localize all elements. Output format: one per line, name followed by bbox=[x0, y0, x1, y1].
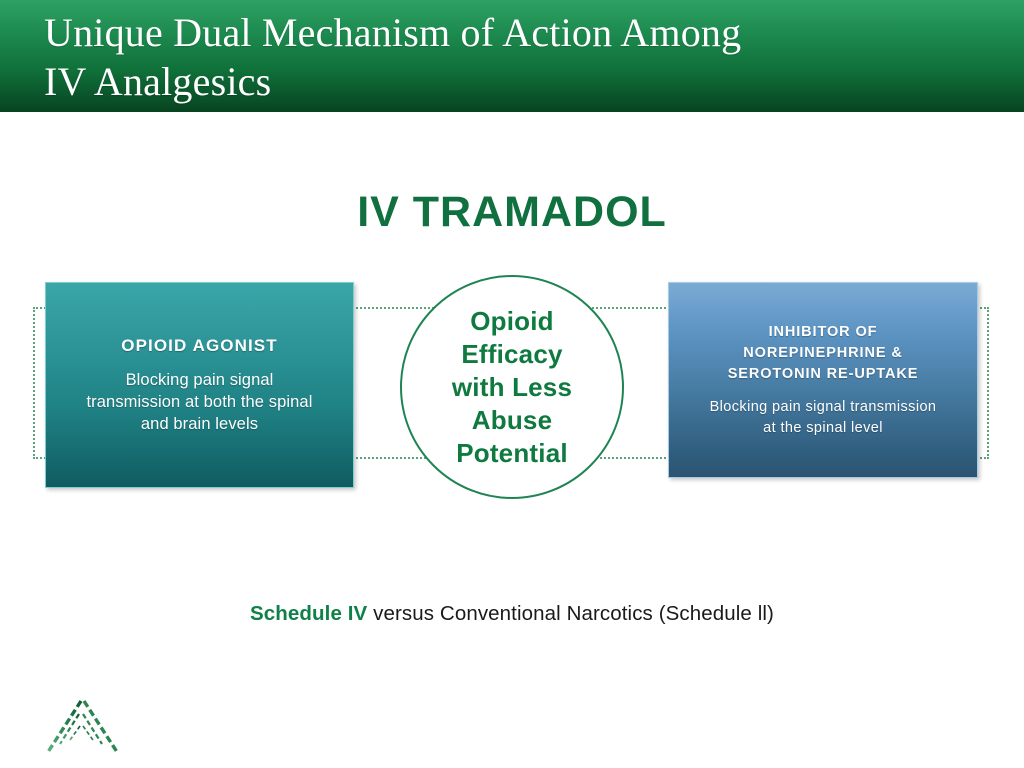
center-outcome-circle: Opioid Efficacy with Less Abuse Potentia… bbox=[400, 275, 624, 499]
footnote: Schedule IV versus Conventional Narcotic… bbox=[0, 602, 1024, 626]
mechanism-box-right-title: INHIBITOR OF NOREPINEPHRINE & SEROTONIN … bbox=[728, 322, 919, 385]
page-title: Unique Dual Mechanism of Action Among IV… bbox=[44, 8, 944, 106]
mechanism-box-left-body: Blocking pain signal transmission at bot… bbox=[87, 369, 313, 435]
mechanism-box-reuptake-inhibitor: INHIBITOR OF NOREPINEPHRINE & SEROTONIN … bbox=[668, 282, 978, 478]
triangle-logo bbox=[38, 696, 122, 756]
footnote-rest: versus Conventional Narcotics (Schedule … bbox=[367, 602, 774, 625]
footnote-strong: Schedule IV bbox=[250, 602, 367, 625]
center-outcome-text: Opioid Efficacy with Less Abuse Potentia… bbox=[452, 305, 572, 470]
header-banner: Unique Dual Mechanism of Action Among IV… bbox=[0, 0, 1024, 112]
slide-canvas: Unique Dual Mechanism of Action Among IV… bbox=[0, 0, 1024, 768]
product-title: IV TRAMADOL bbox=[0, 188, 1024, 237]
mechanism-box-opioid-agonist: OPIOID AGONIST Blocking pain signal tran… bbox=[45, 282, 354, 488]
mechanism-box-left-title: OPIOID AGONIST bbox=[121, 336, 277, 356]
mechanism-box-right-body: Blocking pain signal transmission at the… bbox=[710, 397, 937, 439]
